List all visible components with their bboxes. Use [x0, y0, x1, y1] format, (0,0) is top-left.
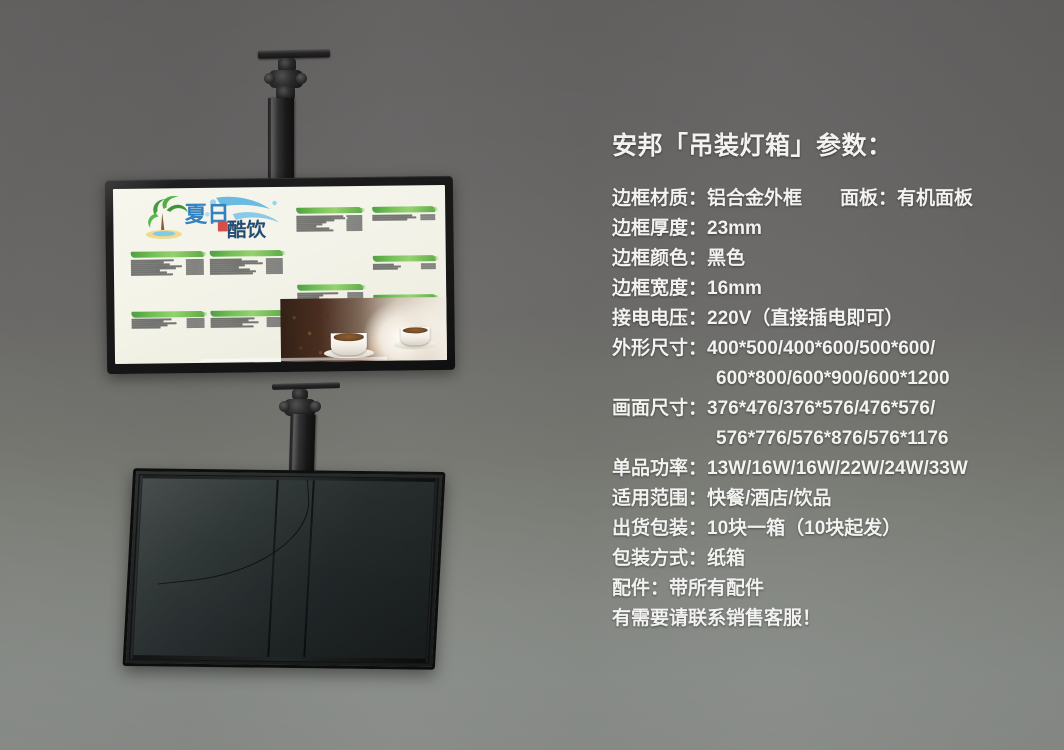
product-photo-canvas: 夏日 酷饮	[0, 0, 1064, 750]
coffee-photo	[280, 297, 447, 362]
spec-line-frame-color: 边框颜色：黑色	[612, 244, 1052, 274]
spec-line-frame-thickness: 边框厚度：23mm	[612, 214, 1052, 244]
coffee-cup-front	[331, 333, 368, 355]
spec-line-frame-material: 边框材质：铝合金外框 面板：有机面板	[612, 184, 1052, 214]
menu-section-2	[210, 250, 283, 274]
spec-line-accessories: 配件：带所有配件	[612, 574, 1052, 604]
lightbox-upper-front: 夏日 酷饮	[105, 176, 455, 374]
menu-section-header	[130, 251, 203, 258]
menu-section-header	[297, 284, 363, 291]
ceiling-mount-plate-upper	[258, 49, 330, 59]
pivot-knob-right-upper	[296, 73, 307, 84]
spec-line-packing-method: 包装方式：纸箱	[612, 544, 1052, 574]
spec-panel: 安邦「吊装灯箱」参数： 边框材质：铝合金外框 面板：有机面板边框厚度：23mm边…	[612, 126, 1052, 634]
back-rail-right	[425, 479, 438, 663]
spec-line-power: 单品功率：13W/16W/16W/22W/24W/33W	[612, 454, 1052, 484]
spec-line-outer-size-2: 600*800/600*900/600*1200	[612, 364, 1052, 394]
back-rail-left	[130, 475, 143, 659]
menu-section-4	[211, 309, 284, 327]
spec-line-voltage: 接电电压：220V（直接插电即可）	[612, 304, 1052, 334]
spec-line-shipping-pack: 出货包装：10块一箱（10块起发）	[612, 514, 1052, 544]
palm-tree-icon	[146, 195, 189, 238]
back-rail-bottom	[130, 655, 428, 663]
menu-section-1	[130, 251, 203, 275]
menu-headline-characters: 夏日 酷饮	[185, 201, 267, 242]
pole-highlight-upper	[271, 98, 278, 184]
menu-section-header	[211, 309, 284, 316]
lightbox-lower-back	[123, 468, 446, 670]
menu-section-header	[372, 206, 435, 213]
spec-line-contact: 有需要请联系销售客服！	[612, 604, 1052, 634]
spec-line-screen-size: 画面尺寸：376*476/376*576/476*576/	[612, 394, 1052, 424]
menu-poster: 夏日 酷饮	[113, 185, 447, 364]
menu-headline-artwork: 夏日 酷饮	[126, 190, 313, 245]
lightbox-back-panel	[129, 474, 439, 663]
menu-section-3	[131, 310, 204, 328]
menu-section-6	[372, 206, 435, 220]
menu-section-header	[210, 250, 283, 257]
pivot-knob-left-upper	[264, 73, 275, 84]
coffee-cup-back	[400, 327, 430, 345]
power-cable	[152, 479, 314, 585]
mount-pole-upper	[268, 98, 294, 184]
pivot-knob-left-lower	[279, 401, 290, 412]
spec-line-application: 适用范围：快餐/酒店/饮品	[612, 484, 1052, 514]
svg-text:酷饮: 酷饮	[227, 218, 267, 241]
menu-section-5	[296, 207, 363, 231]
spec-line-screen-size-2: 576*776/576*876/576*1176	[612, 424, 1052, 454]
menu-section-header	[373, 255, 436, 262]
pivot-knob-right-lower	[310, 401, 321, 412]
menu-section-header	[131, 310, 204, 317]
spec-line-list: 边框材质：铝合金外框 面板：有机面板边框厚度：23mm边框颜色：黑色边框宽度：1…	[612, 184, 1052, 634]
spec-line-outer-size: 外形尺寸：400*500/400*600/500*600/	[612, 334, 1052, 364]
spec-line-frame-width: 边框宽度：16mm	[612, 274, 1052, 304]
menu-section-7	[373, 255, 436, 269]
menu-section-header	[296, 207, 362, 214]
spec-title: 安邦「吊装灯箱」参数：	[612, 126, 1052, 162]
